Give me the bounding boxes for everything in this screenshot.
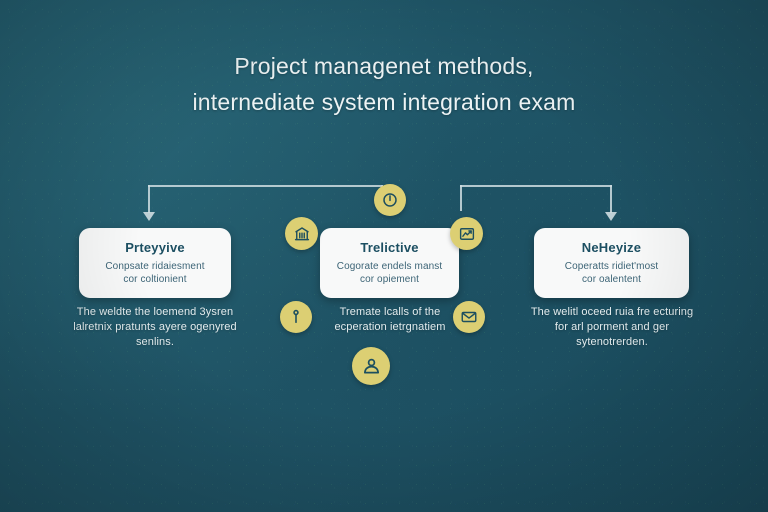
card-subtitle: Conpsate ridaiesmentcor coltionient (91, 260, 219, 286)
card-title: NeHeyize (546, 240, 677, 255)
connector-right-horizontal (460, 185, 612, 187)
card-body-text: The weldte the loemend 3ysren lalretnix … (72, 305, 238, 350)
card-title: Trelictive (332, 240, 447, 255)
title-line-2: internediate system integration exam (96, 84, 672, 120)
card-body-text: The welitl oceed ruia fre ecturing for a… (528, 305, 696, 350)
card-analyze[interactable]: NeHeyize Coperatts ridiet'mostcor oalent… (534, 228, 689, 298)
card-subtitle: Cogorate endels manstcor opiement (332, 260, 447, 286)
mail-icon[interactable] (453, 301, 485, 333)
title-line-1: Project managenet methods, (96, 48, 672, 84)
diagram-canvas: Project managenet methods, internediate … (0, 0, 768, 512)
card-subtitle: Coperatts ridiet'mostcor oalentent (546, 260, 677, 286)
user-icon[interactable] (352, 347, 390, 385)
arrow-down-icon (143, 212, 155, 221)
connector-left (148, 185, 383, 227)
report-icon[interactable] (450, 217, 483, 250)
card-preventive[interactable]: Prteyyive Conpsate ridaiesmentcor coltio… (79, 228, 231, 298)
connector-right-origin-stem (460, 185, 462, 211)
card-title: Prteyyive (91, 240, 219, 255)
connector-left-horizontal (148, 185, 383, 187)
connector-right (460, 185, 612, 227)
bank-icon[interactable] (285, 217, 318, 250)
card-predictive[interactable]: Trelictive Cogorate endels manstcor opie… (320, 228, 459, 298)
card-body-text: Tremate lcalls of the ecperation ietrgna… (316, 305, 464, 335)
connector-right-down-stem (610, 185, 612, 213)
arrow-down-icon (605, 212, 617, 221)
page-title: Project managenet methods, internediate … (0, 48, 768, 120)
person-icon[interactable] (280, 301, 312, 333)
power-icon[interactable] (374, 184, 406, 216)
connector-left-down-stem (148, 185, 150, 213)
